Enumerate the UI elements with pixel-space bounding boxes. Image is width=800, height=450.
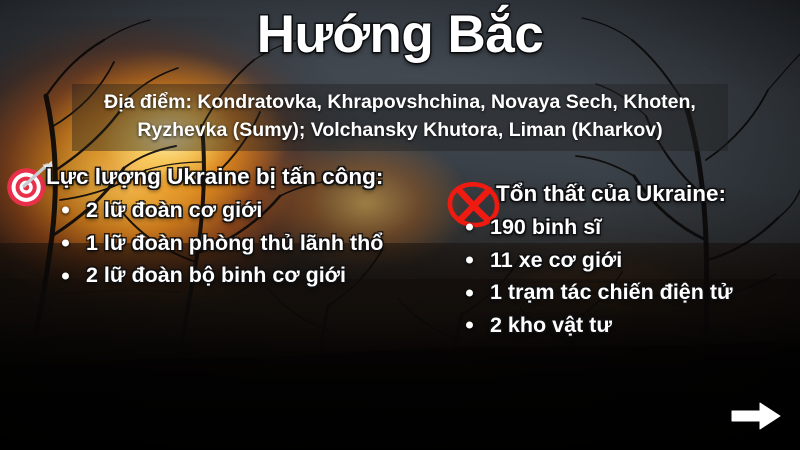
list-item: 2 lữ đoàn cơ giới: [10, 194, 430, 227]
arrow-right-icon[interactable]: [730, 400, 782, 432]
list-item: 2 kho vật tư: [438, 309, 800, 342]
location-line-2: Ryzhevka (Sumy); Volchansky Khutora, Lim…: [82, 117, 718, 145]
location-band: Địa điểm: Kondratovka, Khrapovshchina, N…: [72, 84, 728, 151]
attacked-forces-column: Lực lượng Ukraine bị tấn công: 2 lữ đoàn…: [10, 163, 430, 292]
location-line-1: Địa điểm: Kondratovka, Khrapovshchina, N…: [82, 89, 718, 117]
ukraine-losses-column: Tổn thất của Ukraine: 190 binh sĩ 11 xe …: [438, 180, 800, 342]
attacked-forces-heading: Lực lượng Ukraine bị tấn công:: [10, 163, 430, 190]
attacked-forces-list: 2 lữ đoàn cơ giới 1 lữ đoàn phòng thủ lã…: [10, 194, 430, 292]
list-item: 2 lữ đoàn bộ binh cơ giới: [10, 259, 430, 292]
list-item: 1 lữ đoàn phòng thủ lãnh thổ: [10, 227, 430, 260]
page-title: Hướng Bắc: [0, 6, 800, 63]
ukraine-losses-heading: Tổn thất của Ukraine:: [438, 180, 800, 207]
list-item: 190 binh sĩ: [438, 211, 800, 244]
list-item: 1 trạm tác chiến điện tử: [438, 276, 800, 309]
list-item: 11 xe cơ giới: [438, 244, 800, 277]
ukraine-losses-list: 190 binh sĩ 11 xe cơ giới 1 trạm tác chi…: [438, 211, 800, 342]
slide-container: Hướng Bắc Địa điểm: Kondratovka, Khrapov…: [0, 0, 800, 450]
